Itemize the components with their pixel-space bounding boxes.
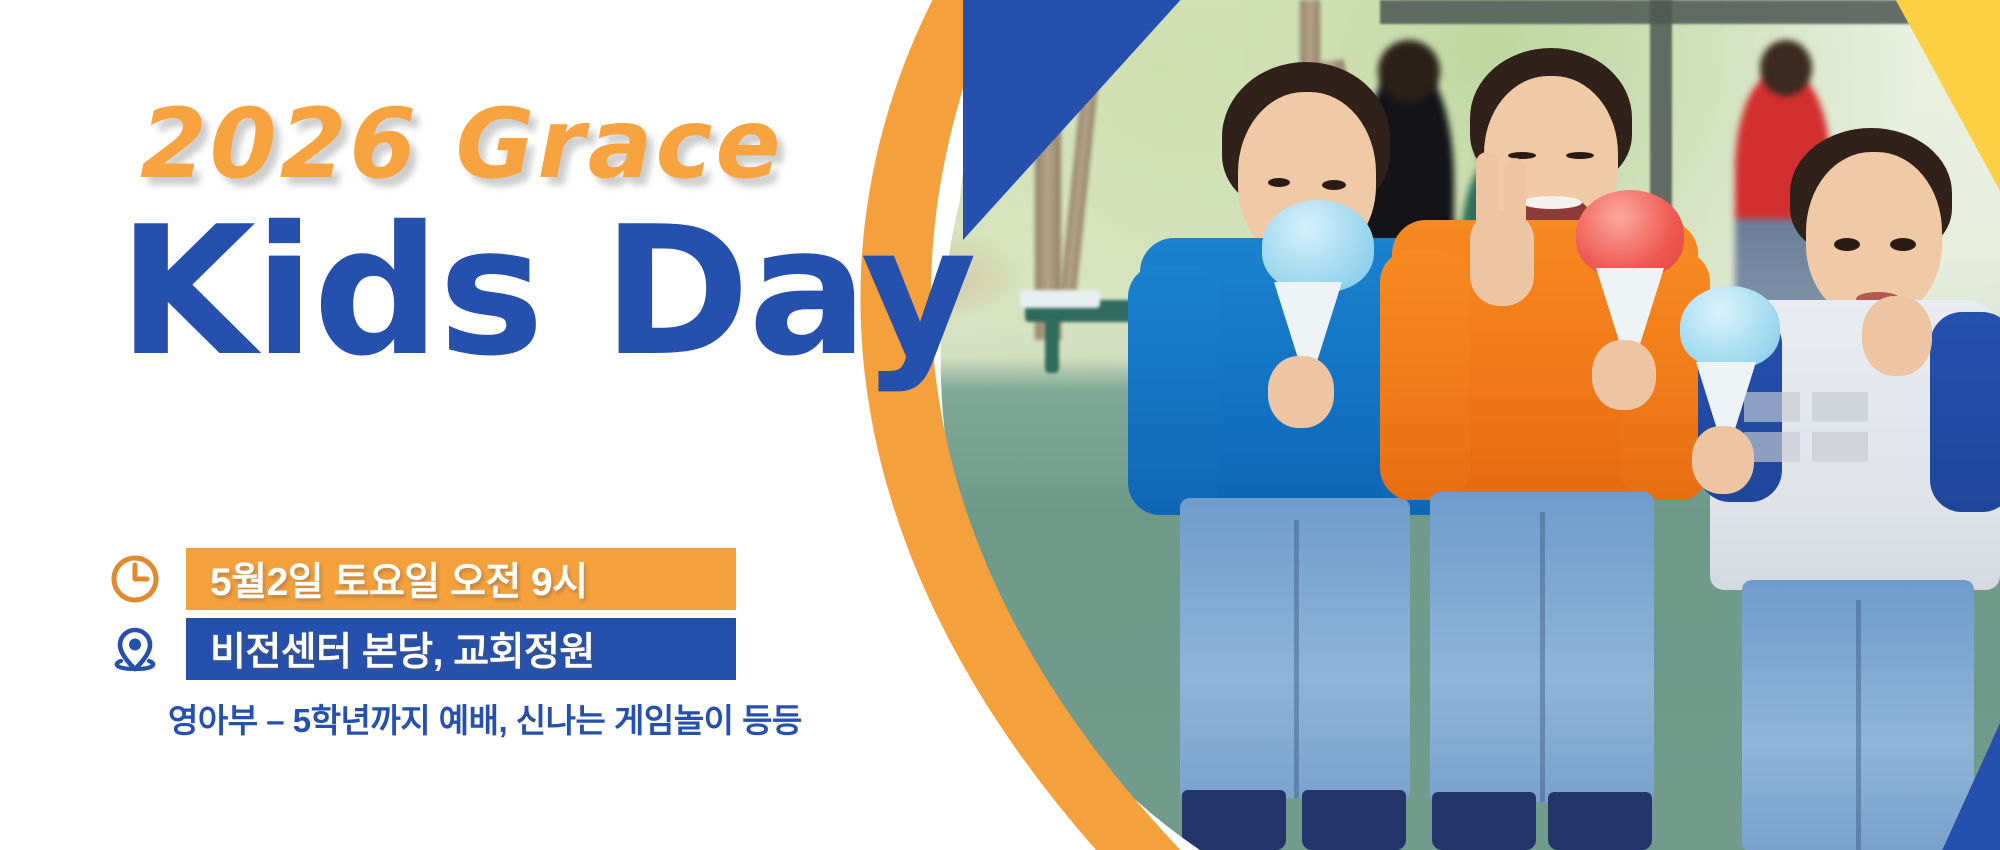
leg-seam [1856, 600, 1861, 850]
shoe [1302, 790, 1406, 850]
text-panel: 2026 Grace Kids Day 5월2일 토요일 오전 9시 [0, 0, 900, 850]
shoe [1182, 790, 1286, 850]
detail-location-text: 비전센터 본당, 교회정원 [186, 618, 736, 680]
eye [1834, 238, 1860, 251]
shirt-graphic [1812, 432, 1868, 462]
background-person-head [1760, 40, 1812, 96]
hand-on-chin [1862, 296, 1932, 376]
raglan-sleeve [1930, 312, 2000, 512]
eye [1322, 180, 1346, 190]
teeth [1522, 196, 1582, 209]
shirt-graphic [1812, 392, 1868, 422]
eye-closed [1566, 152, 1594, 159]
left-arm [1128, 265, 1220, 515]
detail-row-location: 비전센터 본당, 교회정원 [106, 618, 866, 680]
event-details: 5월2일 토요일 오전 9시 비전센터 본당, 교회정원 영아부 – 5학년까지… [106, 548, 866, 742]
shoe [1548, 792, 1652, 850]
bench-leg [1045, 318, 1059, 373]
shaved-ice-blue [1680, 286, 1780, 368]
finger [1476, 152, 1498, 230]
headline-main: Kids Day [118, 192, 975, 391]
leg-seam [1294, 520, 1299, 798]
finger [1504, 158, 1526, 230]
hand-holding-cone [1692, 426, 1754, 494]
hand-holding-cone [1592, 340, 1656, 410]
leg-seam [1540, 512, 1545, 802]
background-person-head [1378, 40, 1440, 102]
shaved-ice-blue [1262, 200, 1374, 292]
detail-time-text: 5월2일 토요일 오전 9시 [186, 548, 736, 610]
shoe [1432, 792, 1536, 850]
pavilion-beam [1380, 0, 2000, 24]
hand-holding-cone [1268, 356, 1334, 428]
clock-icon [106, 550, 164, 608]
eye [1890, 238, 1916, 251]
location-pin-icon [106, 620, 164, 678]
kids-day-banner: 2026 Grace Kids Day 5월2일 토요일 오전 9시 [0, 0, 2000, 850]
detail-row-time: 5월2일 토요일 오전 9시 [106, 548, 866, 610]
tree-trunk [1035, 0, 1061, 340]
headline-year: 2026 Grace [140, 96, 784, 192]
eye [1268, 178, 1290, 187]
left-arm [1380, 250, 1470, 500]
shaved-ice-red [1576, 190, 1684, 278]
bench-items [1020, 290, 1100, 308]
detail-note: 영아부 – 5학년까지 예배, 신나는 게임놀이 등등 [168, 694, 866, 742]
